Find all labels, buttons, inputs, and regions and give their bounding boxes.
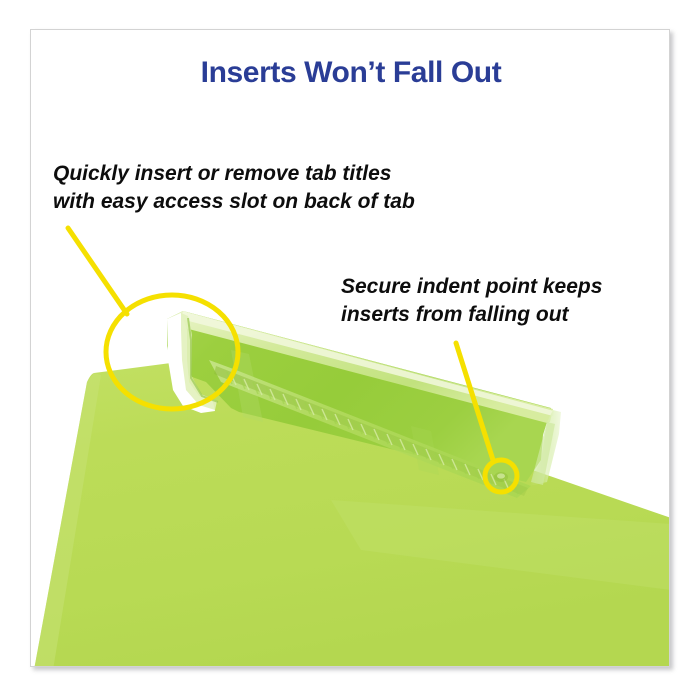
product-card: Inserts Won’t Fall Out Quickly insert or… — [30, 29, 670, 667]
product-photo — [31, 30, 670, 667]
divider-illustration — [31, 30, 670, 667]
annotation-access-slot-line2: with easy access slot on back of tab — [53, 188, 415, 216]
product-feature-image: Inserts Won’t Fall Out Quickly insert or… — [0, 0, 700, 700]
annotation-indent-point-line2: inserts from falling out — [341, 301, 602, 329]
annotation-indent-point-line1: Secure indent point keeps — [341, 273, 602, 301]
annotation-access-slot: Quickly insert or remove tab titles with… — [53, 160, 415, 216]
annotation-access-slot-line1: Quickly insert or remove tab titles — [53, 160, 415, 188]
annotation-indent-point: Secure indent point keeps inserts from f… — [341, 273, 602, 329]
page-title: Inserts Won’t Fall Out — [31, 56, 670, 90]
indent-point — [494, 472, 508, 482]
